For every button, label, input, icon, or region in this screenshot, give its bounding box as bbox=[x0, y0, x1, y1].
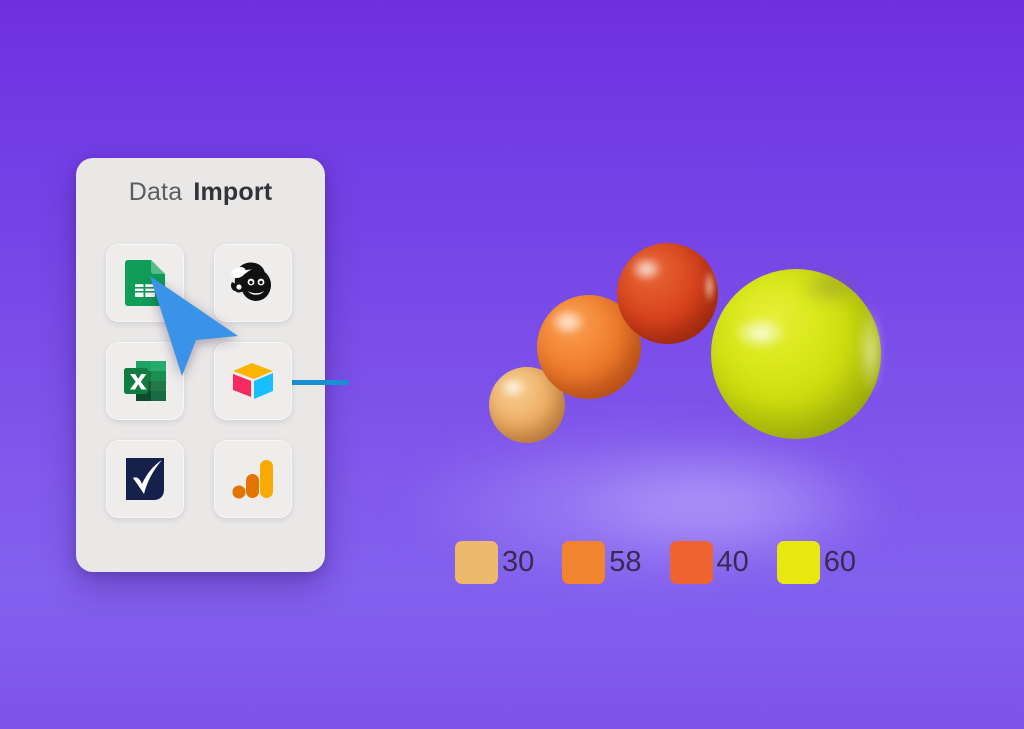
sphere-highlight bbox=[500, 378, 526, 398]
legend-swatch-orange bbox=[562, 541, 605, 584]
sphere-red bbox=[617, 243, 718, 344]
legend-value: 30 bbox=[502, 548, 534, 577]
legend-value: 40 bbox=[717, 548, 749, 577]
legend-item: 30 bbox=[455, 541, 534, 584]
sphere-highlight bbox=[631, 257, 662, 281]
floor-glow bbox=[300, 390, 1000, 620]
legend-value: 60 bbox=[824, 548, 856, 577]
google-analytics-icon bbox=[231, 457, 275, 501]
tab-data[interactable]: Data bbox=[129, 180, 183, 209]
sphere-rim-light bbox=[703, 269, 716, 303]
sphere-rim-shadow bbox=[799, 271, 860, 305]
legend-item: 60 bbox=[777, 541, 856, 584]
tab-import[interactable]: Import bbox=[193, 180, 272, 209]
integration-tile-mailchimp[interactable] bbox=[214, 244, 292, 322]
legend-swatch-tan bbox=[455, 541, 498, 584]
integration-tile-microsoft-excel[interactable] bbox=[106, 342, 184, 420]
sphere-rim-light bbox=[857, 306, 881, 394]
legend-item: 40 bbox=[670, 541, 749, 584]
integration-tile-google-sheets[interactable] bbox=[106, 244, 184, 322]
integration-tile-wrike[interactable] bbox=[106, 440, 184, 518]
integration-tile-airtable[interactable] bbox=[214, 342, 292, 420]
google-sheets-icon bbox=[125, 260, 165, 306]
sphere-yellow bbox=[711, 269, 881, 439]
legend-value: 58 bbox=[609, 548, 641, 577]
legend-swatch-yellow bbox=[777, 541, 820, 584]
data-import-panel: Data Import bbox=[76, 158, 325, 572]
wrike-icon bbox=[124, 456, 166, 502]
legend-item: 58 bbox=[562, 541, 641, 584]
integration-icon-grid bbox=[106, 244, 296, 518]
microsoft-excel-icon bbox=[122, 359, 168, 403]
legend: 30 58 40 60 bbox=[455, 541, 856, 584]
sphere-highlight bbox=[735, 317, 786, 349]
integration-tile-google-analytics[interactable] bbox=[214, 440, 292, 518]
airtable-icon bbox=[230, 361, 276, 401]
mailchimp-icon bbox=[229, 260, 277, 306]
tab-bar: Data Import bbox=[76, 180, 325, 209]
scene-canvas: 30 58 40 60 Data Import bbox=[0, 0, 1024, 729]
legend-swatch-red bbox=[670, 541, 713, 584]
sphere-highlight bbox=[551, 309, 585, 335]
